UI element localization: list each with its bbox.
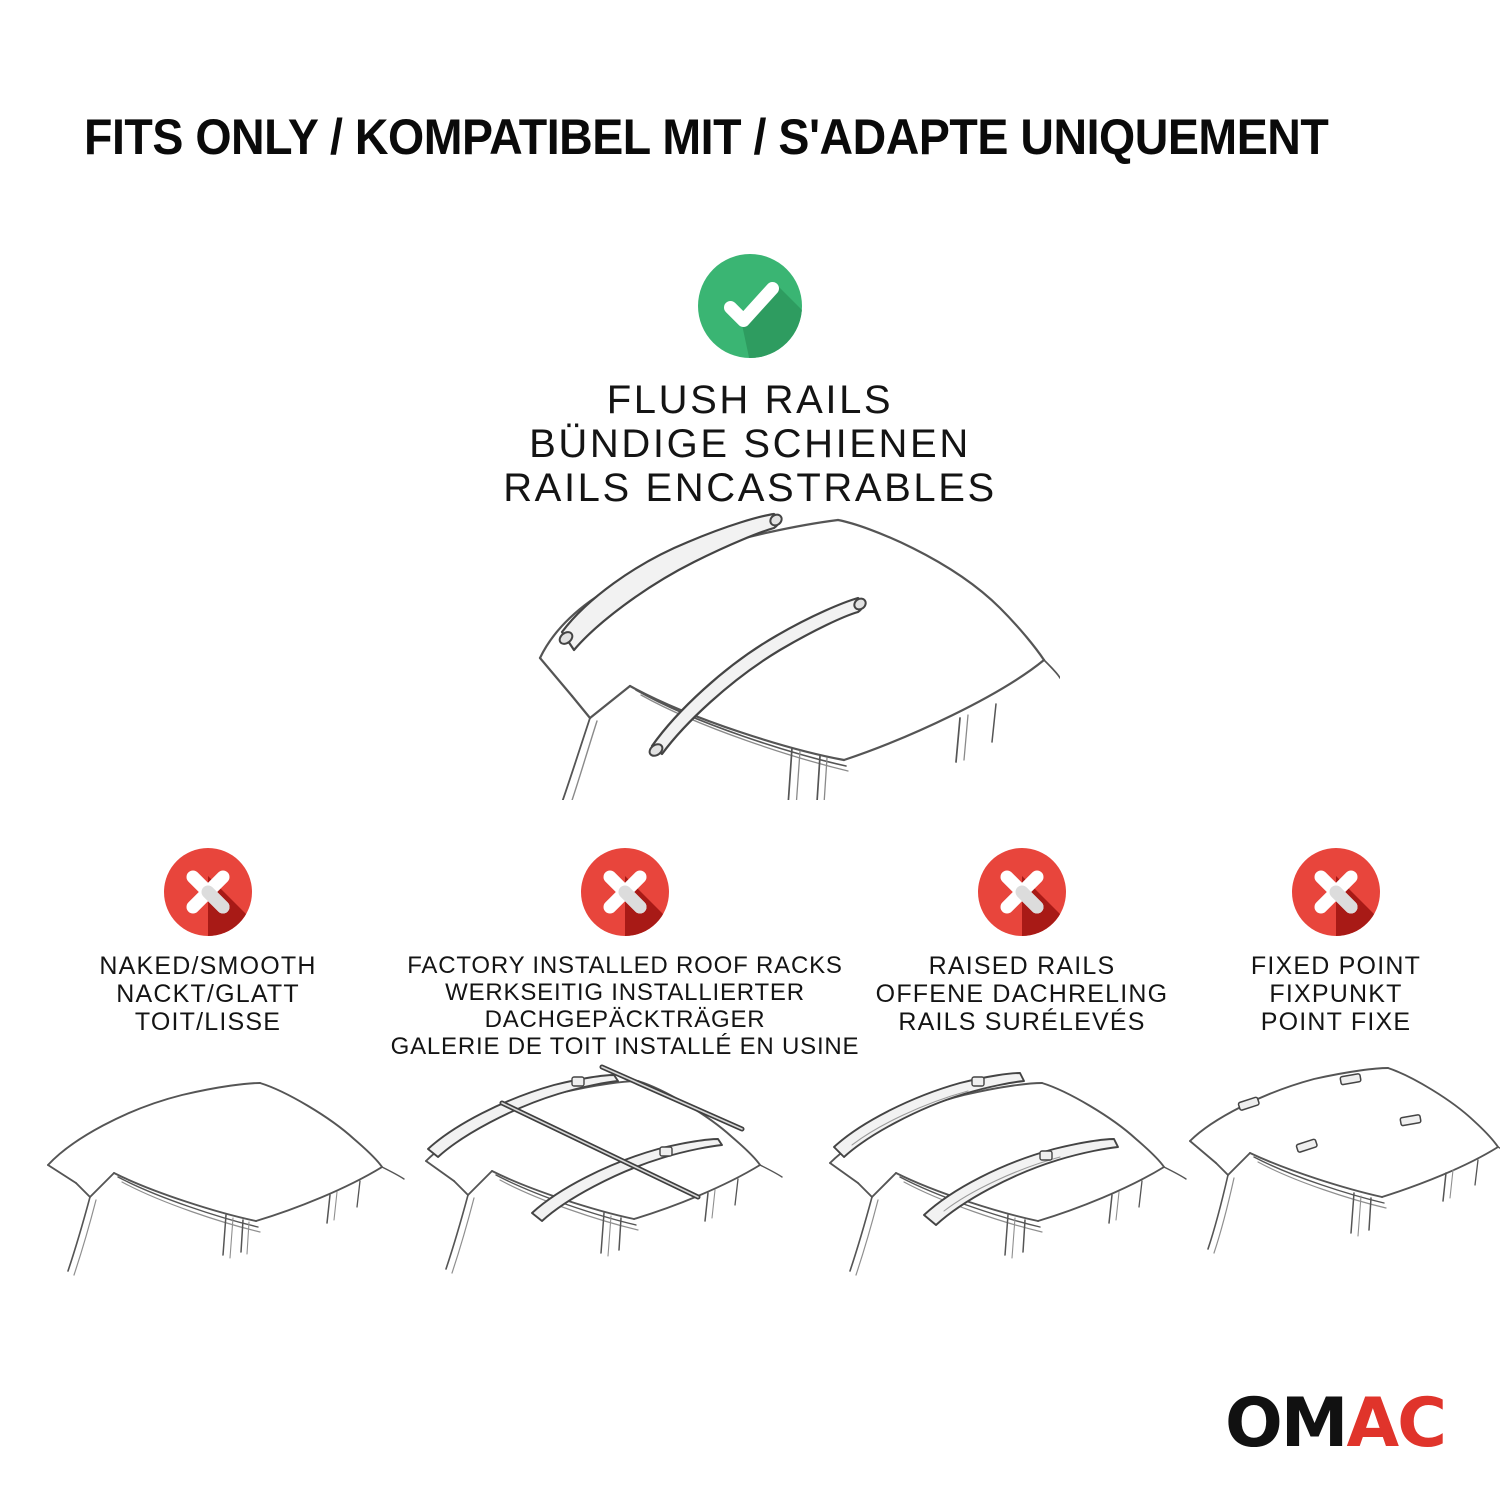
label-line-fr: TOIT/LISSE bbox=[48, 1008, 368, 1036]
car-roof-factory-roof-racks-illustration bbox=[412, 1055, 812, 1320]
incompatible-item-naked-smooth: NAKED/SMOOTH NACKT/GLATT TOIT/LISSE bbox=[48, 846, 368, 1036]
omac-logo: OMAC bbox=[1225, 1390, 1445, 1458]
incompatible-section: NAKED/SMOOTH NACKT/GLATT TOIT/LISSE bbox=[0, 846, 1500, 1066]
car-roof-flush-rails-illustration bbox=[0, 490, 1500, 810]
label-line-de-1: WERKSEITIG INSTALLIERTER bbox=[390, 979, 860, 1006]
page-title: FITS ONLY / KOMPATIBEL MIT / S'ADAPTE UN… bbox=[84, 108, 1330, 166]
cross-circle-icon bbox=[579, 846, 671, 938]
label-line-de: OFFENE DACHRELING bbox=[852, 980, 1192, 1008]
label-line-en: FACTORY INSTALLED ROOF RACKS bbox=[390, 952, 860, 979]
label-line-de-2: DACHGEPÄCKTRÄGER bbox=[390, 1006, 860, 1033]
car-roof-raised-rails-illustration bbox=[812, 1055, 1212, 1320]
label-line-fr: RAILS SURÉLEVÉS bbox=[852, 1008, 1192, 1036]
label-line-en: RAISED RAILS bbox=[852, 952, 1192, 980]
logo-part-dark: OM bbox=[1225, 1384, 1346, 1463]
cross-circle-icon bbox=[1290, 846, 1382, 938]
car-roof-fixed-point-illustration bbox=[1178, 1055, 1500, 1320]
label-line-fr: POINT FIXE bbox=[1186, 1008, 1486, 1036]
incompatible-item-raised-rails: RAISED RAILS OFFENE DACHRELING RAILS SUR… bbox=[852, 846, 1192, 1036]
label-line-de: FIXPUNKT bbox=[1186, 980, 1486, 1008]
incompatible-label-raised-rails: RAISED RAILS OFFENE DACHRELING RAILS SUR… bbox=[852, 952, 1192, 1036]
incompatible-item-factory-roof-racks: FACTORY INSTALLED ROOF RACKS WERKSEITIG … bbox=[390, 846, 860, 1060]
incompatible-label-fixed-point: FIXED POINT FIXPUNKT POINT FIXE bbox=[1186, 952, 1486, 1036]
logo-part-red: AC bbox=[1346, 1384, 1445, 1463]
label-line-de: NACKT/GLATT bbox=[48, 980, 368, 1008]
incompatible-label-factory-roof-racks: FACTORY INSTALLED ROOF RACKS WERKSEITIG … bbox=[390, 952, 860, 1060]
incompatible-item-fixed-point: FIXED POINT FIXPUNKT POINT FIXE bbox=[1186, 846, 1486, 1036]
car-roof-naked-smooth-illustration bbox=[30, 1055, 420, 1320]
compatible-label-en: FLUSH RAILS bbox=[0, 378, 1500, 422]
label-line-en: FIXED POINT bbox=[1186, 952, 1486, 980]
label-line-en: NAKED/SMOOTH bbox=[48, 952, 368, 980]
incompatible-label-naked-smooth: NAKED/SMOOTH NACKT/GLATT TOIT/LISSE bbox=[48, 952, 368, 1036]
compatible-section: FLUSH RAILS BÜNDIGE SCHIENEN RAILS ENCAS… bbox=[0, 250, 1500, 510]
illustration-row bbox=[0, 1055, 1500, 1325]
cross-circle-icon bbox=[976, 846, 1068, 938]
check-circle-icon bbox=[694, 250, 806, 362]
compatible-label-de: BÜNDIGE SCHIENEN bbox=[0, 422, 1500, 466]
cross-circle-icon bbox=[162, 846, 254, 938]
